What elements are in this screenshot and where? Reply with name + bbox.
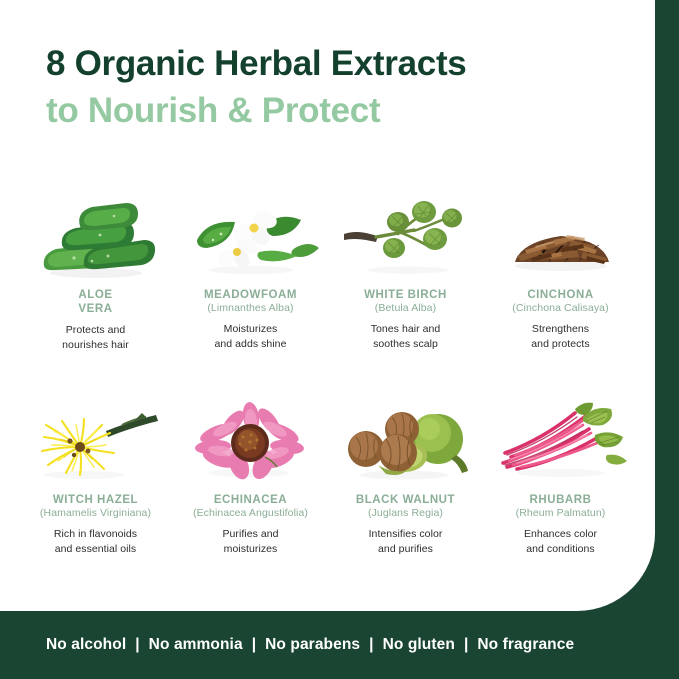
claims-banner: No alcohol | No ammonia | No parabens | … bbox=[0, 610, 679, 679]
ingredient-benefit: Purifies and moisturizes bbox=[222, 527, 278, 557]
witch-hazel-illustration bbox=[22, 395, 170, 487]
ingredient-latin-name: (Cinchona Calisaya) bbox=[512, 302, 608, 316]
headline-block: 8 Organic Herbal Extracts to Nourish & P… bbox=[46, 46, 466, 128]
claim-no-fragrance: No fragrance bbox=[477, 636, 574, 654]
ingredient-name: WITCH HAZEL bbox=[53, 493, 138, 507]
ingredient-benefit: Rich in flavonoids and essential oils bbox=[54, 527, 137, 557]
page-subtitle: to Nourish & Protect bbox=[46, 93, 466, 128]
ingredient-card-meadowfoam: MEADOWFOAM (Limnanthes Alba) Moisturizes… bbox=[173, 190, 328, 395]
rhubarb-illustration bbox=[487, 395, 635, 487]
claims-list: No alcohol | No ammonia | No parabens | … bbox=[46, 636, 574, 654]
claim-separator: | bbox=[135, 636, 139, 654]
claim-no-ammonia: No ammonia bbox=[149, 636, 243, 654]
claim-separator: | bbox=[464, 636, 468, 654]
ingredient-card-white-birch: WHITE BIRCH (Betula Alba) Tones hair and… bbox=[328, 190, 483, 395]
page-title: 8 Organic Herbal Extracts bbox=[46, 46, 466, 81]
ingredient-benefit: Intensifies color and purifies bbox=[369, 527, 443, 557]
ingredient-benefit: Strengthens and protects bbox=[531, 322, 589, 352]
claim-no-alcohol: No alcohol bbox=[46, 636, 126, 654]
ingredient-benefit: Tones hair and soothes scalp bbox=[371, 322, 441, 352]
echinacea-illustration bbox=[177, 395, 325, 487]
ingredient-name: ECHINACEA bbox=[214, 493, 287, 507]
claim-no-parabens: No parabens bbox=[265, 636, 360, 654]
ingredient-card-rhubarb: RHUBARB (Rheum Palmatun) Enhances color … bbox=[483, 395, 638, 600]
ingredient-card-black-walnut: BLACK WALNUT (Juglans Regia) Intensifies… bbox=[328, 395, 483, 600]
ingredient-latin-name: (Echinacea Angustifolia) bbox=[193, 507, 308, 521]
black-walnut-illustration bbox=[332, 395, 480, 487]
ingredient-name: MEADOWFOAM bbox=[204, 288, 297, 302]
ingredient-name: ALOE VERA bbox=[78, 288, 112, 317]
content-sheet: 8 Organic Herbal Extracts to Nourish & P… bbox=[0, 0, 655, 611]
ingredient-name: WHITE BIRCH bbox=[364, 288, 447, 302]
ingredient-grid: ALOE VERA Protects and nourishes hair bbox=[18, 190, 638, 600]
ingredient-latin-name: (Hamamelis Virginiana) bbox=[40, 507, 151, 521]
ingredient-card-witch-hazel: WITCH HAZEL (Hamamelis Virginiana) Rich … bbox=[18, 395, 173, 600]
ingredient-latin-name: (Betula Alba) bbox=[375, 302, 436, 316]
claim-separator: | bbox=[252, 636, 256, 654]
ingredient-benefit: Enhances color and conditions bbox=[524, 527, 597, 557]
ingredient-card-aloe-vera: ALOE VERA Protects and nourishes hair bbox=[18, 190, 173, 395]
ingredient-name: BLACK WALNUT bbox=[356, 493, 455, 507]
ingredient-latin-name: (Juglans Regia) bbox=[368, 507, 443, 521]
ingredient-benefit: Moisturizes and adds shine bbox=[215, 322, 287, 352]
ingredient-card-cinchona: CINCHONA (Cinchona Calisaya) Strengthens… bbox=[483, 190, 638, 395]
cinchona-illustration bbox=[487, 190, 635, 282]
meadowfoam-illustration bbox=[177, 190, 325, 282]
ingredient-card-echinacea: ECHINACEA (Echinacea Angustifolia) Purif… bbox=[173, 395, 328, 600]
ingredient-name: RHUBARB bbox=[530, 493, 592, 507]
ingredient-name: CINCHONA bbox=[527, 288, 593, 302]
ingredient-latin-name: (Limnanthes Alba) bbox=[207, 302, 293, 316]
white-birch-illustration bbox=[332, 190, 480, 282]
claim-no-gluten: No gluten bbox=[383, 636, 455, 654]
ingredient-benefit: Protects and nourishes hair bbox=[62, 323, 129, 353]
ingredient-latin-name: (Rheum Palmatun) bbox=[516, 507, 606, 521]
aloe-vera-illustration bbox=[22, 190, 170, 282]
claim-separator: | bbox=[369, 636, 373, 654]
